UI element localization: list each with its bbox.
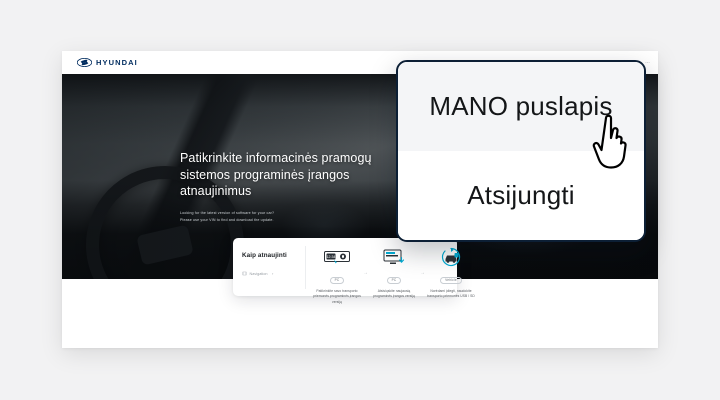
hyundai-logo[interactable]: HYUNDAI xyxy=(77,58,138,67)
step-1-text: Patikrinkite savo transporto priemonės p… xyxy=(311,289,363,305)
step-1-icon-wrap: 12:34 xyxy=(311,246,363,268)
how-to-step-2: PC Atsisiųskite naujausią programinės įr… xyxy=(368,246,420,300)
how-to-steps: 12:34 PC Patikrinkite savo transporto pr… xyxy=(306,246,477,289)
how-to-step-3: Vehicle Norėdami įdiegti, naudokite tran… xyxy=(425,246,477,300)
hero-subtitle: Looking for the latest version of softwa… xyxy=(180,210,380,224)
hero-subtitle-line-1: Looking for the latest version of softwa… xyxy=(180,210,380,217)
step-3-icon-wrap xyxy=(425,246,477,268)
dropdown-item-my-page-label: MANO puslapis xyxy=(429,91,612,122)
hero-subtitle-line-2: Please use your VIN to find and download… xyxy=(180,217,380,224)
step-2-text: Atsisiųskite naujausią programinės įrang… xyxy=(368,289,420,300)
chevron-right-icon: › xyxy=(272,271,273,276)
step-2-badge: PC xyxy=(387,277,402,284)
hyundai-logo-icon xyxy=(77,58,92,67)
infotainment-screen-icon: 12:34 xyxy=(324,250,350,265)
step-2-icon-wrap xyxy=(368,246,420,268)
map-icon xyxy=(242,271,247,276)
dropdown-item-my-page[interactable]: MANO puslapis xyxy=(398,62,644,151)
navigation-link[interactable]: Navigation › xyxy=(242,271,299,276)
hero-copy: Patikrinkite informacinės pramogų sistem… xyxy=(180,150,380,224)
navigation-link-label: Navigation xyxy=(250,272,268,276)
screenshot-stage: HYUNDAI ... Patikrinkite informacinės pr… xyxy=(0,0,720,400)
how-to-update-card: Kaip atnaujinti Navigation › xyxy=(233,238,457,296)
hyundai-wordmark: HYUNDAI xyxy=(96,59,138,67)
account-label: ... xyxy=(645,59,650,65)
dropdown-item-logout[interactable]: Atsijungti xyxy=(398,151,644,240)
monitor-download-icon xyxy=(383,249,405,266)
hero-title: Patikrinkite informacinės pramogų sistem… xyxy=(180,150,380,200)
svg-text:12:34: 12:34 xyxy=(327,255,336,259)
how-to-left-column: Kaip atnaujinti Navigation › xyxy=(242,246,306,289)
step-3-text: Norėdami įdiegti, naudokite transporto p… xyxy=(425,289,477,300)
step-3-badge: Vehicle xyxy=(440,277,462,284)
how-to-title: Kaip atnaujinti xyxy=(242,252,299,259)
account-dropdown-menu: MANO puslapis Atsijungti xyxy=(396,60,646,242)
how-to-step-1: 12:34 PC Patikrinkite savo transporto pr… xyxy=(311,246,363,305)
vehicle-update-icon xyxy=(441,247,461,267)
dropdown-item-logout-label: Atsijungti xyxy=(467,180,575,211)
step-1-badge: PC xyxy=(330,277,345,284)
header-account-area[interactable]: ... xyxy=(645,59,650,65)
